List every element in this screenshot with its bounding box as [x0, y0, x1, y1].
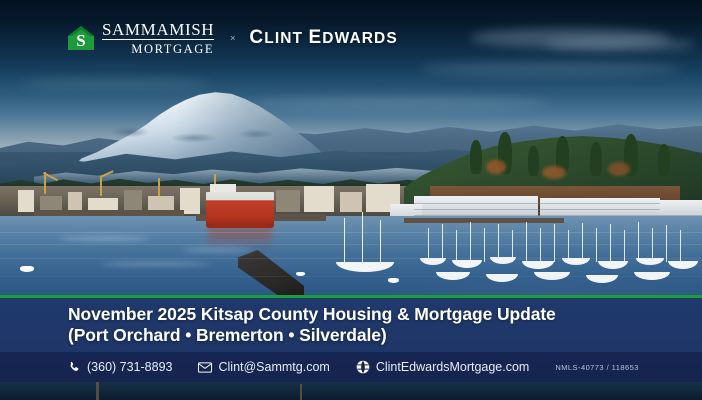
conifer [658, 144, 670, 176]
globe-icon [356, 360, 370, 374]
conifer [470, 140, 482, 174]
sammamish-mortgage-logo[interactable]: S SAMMAMISH MORTGAGE [66, 21, 214, 56]
sailboat-mast [484, 228, 485, 262]
autumn-foliage [486, 160, 506, 174]
house-icon: S [66, 23, 96, 53]
contact-phone[interactable]: (360) 731-8893 [68, 360, 172, 374]
condo-balcony-line [414, 203, 660, 204]
schooner-mast [380, 220, 381, 266]
condo-balcony-line [414, 209, 660, 210]
partner-name[interactable]: CLINT EDWARDS [249, 27, 397, 49]
sailboat-mast [526, 222, 527, 262]
sailboat-mast [442, 224, 443, 262]
svg-text:S: S [76, 31, 85, 50]
water-glint [60, 236, 150, 241]
partner-first-rest: LINT [264, 30, 303, 47]
website-url: ClintEdwardsMortgage.com [376, 360, 530, 374]
partner-first-initial: C [249, 27, 264, 48]
cargo-ship [206, 192, 274, 228]
water-ripple [0, 244, 702, 245]
water-glint [100, 262, 210, 266]
dock-piling [300, 384, 302, 400]
logo-bar: S SAMMAMISH MORTGAGE × CLINT EDWARDS [0, 0, 702, 76]
building [18, 190, 34, 212]
crane [100, 176, 102, 196]
sailboat-mast [554, 224, 555, 262]
phone-icon [68, 361, 81, 374]
water-glint [182, 248, 252, 252]
mount-rainier-rock [108, 120, 288, 160]
partner-last-rest: DWARDS [322, 30, 398, 47]
autumn-foliage [542, 166, 566, 179]
title-band: November 2025 Kitsap County Housing & Mo… [0, 298, 702, 352]
motorboat [388, 278, 399, 283]
sailboat-mast [470, 222, 471, 262]
sailboat-mast [540, 228, 541, 262]
headline-line-2: (Port Orchard • Bremerton • Silverdale) [68, 325, 702, 346]
sailboat-mast [610, 224, 611, 262]
water-ripple [0, 232, 702, 233]
building [340, 192, 362, 212]
headline-line-1: November 2025 Kitsap County Housing & Mo… [68, 304, 702, 325]
phone-number: (360) 731-8893 [87, 360, 172, 374]
nmls-license-number: NMLS-40773 / 118653 [555, 363, 638, 372]
sailboat-mast [582, 223, 583, 262]
water-ripple [0, 276, 702, 277]
partner-last-initial: E [309, 27, 323, 48]
marketing-banner: S SAMMAMISH MORTGAGE × CLINT EDWARDS Nov… [0, 0, 702, 400]
building [304, 186, 334, 212]
contact-bar: (360) 731-8893 Clint@Sammtg.com ClintEdw… [0, 352, 702, 382]
contact-email[interactable]: Clint@Sammtg.com [198, 360, 329, 374]
crane [158, 178, 160, 196]
conifer [590, 142, 602, 176]
brand-name-secondary: MORTGAGE [102, 43, 214, 56]
motorboat [20, 266, 34, 272]
building [276, 190, 300, 212]
sailboat-mast [596, 228, 597, 262]
dock-piling [96, 382, 99, 400]
water-ripple [0, 258, 702, 259]
autumn-foliage [608, 162, 630, 176]
email-address: Clint@Sammtg.com [218, 360, 329, 374]
sailboat-mast [428, 228, 429, 262]
conifer [528, 146, 539, 176]
sailboat-mast [652, 228, 653, 262]
collab-separator: × [230, 33, 235, 43]
brand-name-primary: SAMMAMISH [102, 21, 214, 40]
pier [404, 218, 564, 223]
contact-website[interactable]: ClintEdwardsMortgage.com [356, 360, 530, 374]
bottom-water-strip [0, 382, 702, 400]
pier [34, 210, 184, 216]
envelope-icon [198, 362, 212, 373]
sailboat-mast [638, 222, 639, 262]
